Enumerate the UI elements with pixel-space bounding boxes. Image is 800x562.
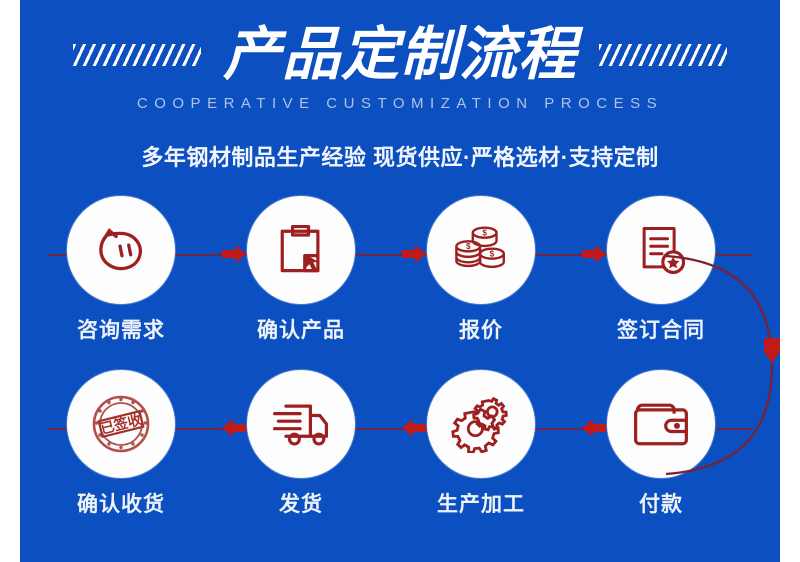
step-label: 确认产品 — [245, 314, 357, 344]
step-circle — [427, 370, 535, 478]
step-circle — [247, 196, 355, 304]
arrow-right-icon — [220, 242, 248, 266]
flow-step-confirm-receipt[interactable]: 已签收 确认收货 — [65, 370, 177, 518]
step-circle — [607, 196, 715, 304]
poster-header: 产品定制流程 COOPERATIVE CUSTOMIZATION PROCESS… — [20, 0, 780, 190]
contract-seal-icon — [631, 220, 691, 280]
flow-step-shipping[interactable]: 发货 — [245, 370, 357, 518]
gears-icon — [450, 395, 512, 453]
step-label: 付款 — [605, 488, 717, 518]
consultation-bubble-icon — [90, 219, 152, 281]
clipboard-cursor-icon — [271, 220, 331, 280]
coin-stacks-icon: $ $ $ — [450, 221, 512, 279]
arrow-right-icon — [400, 242, 428, 266]
step-circle — [247, 370, 355, 478]
flow-step-confirm-product[interactable]: 确认产品 — [245, 196, 357, 344]
step-label: 报价 — [425, 314, 537, 344]
flow-step-payment[interactable]: 付款 — [605, 370, 717, 518]
page-title: 产品定制流程 — [223, 24, 577, 86]
hatch-stripes-left-icon — [73, 44, 201, 66]
step-label: 确认收货 — [65, 488, 177, 518]
svg-text:$: $ — [466, 242, 471, 251]
arrow-left-icon — [400, 416, 428, 440]
arrow-left-icon — [580, 416, 608, 440]
flow-step-quote[interactable]: $ $ $ 报价 — [425, 196, 537, 344]
flow-row-1: 咨询需求 确认产品 — [20, 196, 780, 346]
received-stamp-icon: 已签收 — [89, 392, 153, 456]
subtitle-chinese: 多年钢材制品生产经验 现货供应·严格选材·支持定制 — [20, 140, 780, 172]
flow-step-production[interactable]: 生产加工 — [425, 370, 537, 518]
arrow-right-icon — [580, 242, 608, 266]
step-label: 生产加工 — [425, 488, 537, 518]
flow-step-sign-contract[interactable]: 签订合同 — [605, 196, 717, 344]
flow-row-2: 已签收 确认收货 — [20, 370, 780, 520]
step-circle — [607, 370, 715, 478]
poster-canvas: 产品定制流程 COOPERATIVE CUSTOMIZATION PROCESS… — [20, 0, 780, 562]
step-label: 发货 — [245, 488, 357, 518]
subtitle-english: COOPERATIVE CUSTOMIZATION PROCESS — [20, 95, 780, 112]
delivery-truck-icon — [269, 395, 333, 453]
title-row: 产品定制流程 — [20, 24, 780, 86]
wallet-icon — [630, 396, 692, 452]
step-circle: 已签收 — [67, 370, 175, 478]
flow-step-consultation[interactable]: 咨询需求 — [65, 196, 177, 344]
step-label: 咨询需求 — [65, 314, 177, 344]
step-label: 签订合同 — [605, 314, 717, 344]
hatch-stripes-right-icon — [599, 44, 727, 66]
step-circle: $ $ $ — [427, 196, 535, 304]
svg-text:$: $ — [482, 228, 487, 237]
arrow-left-icon — [220, 416, 248, 440]
step-circle — [67, 196, 175, 304]
svg-text:$: $ — [490, 249, 495, 258]
